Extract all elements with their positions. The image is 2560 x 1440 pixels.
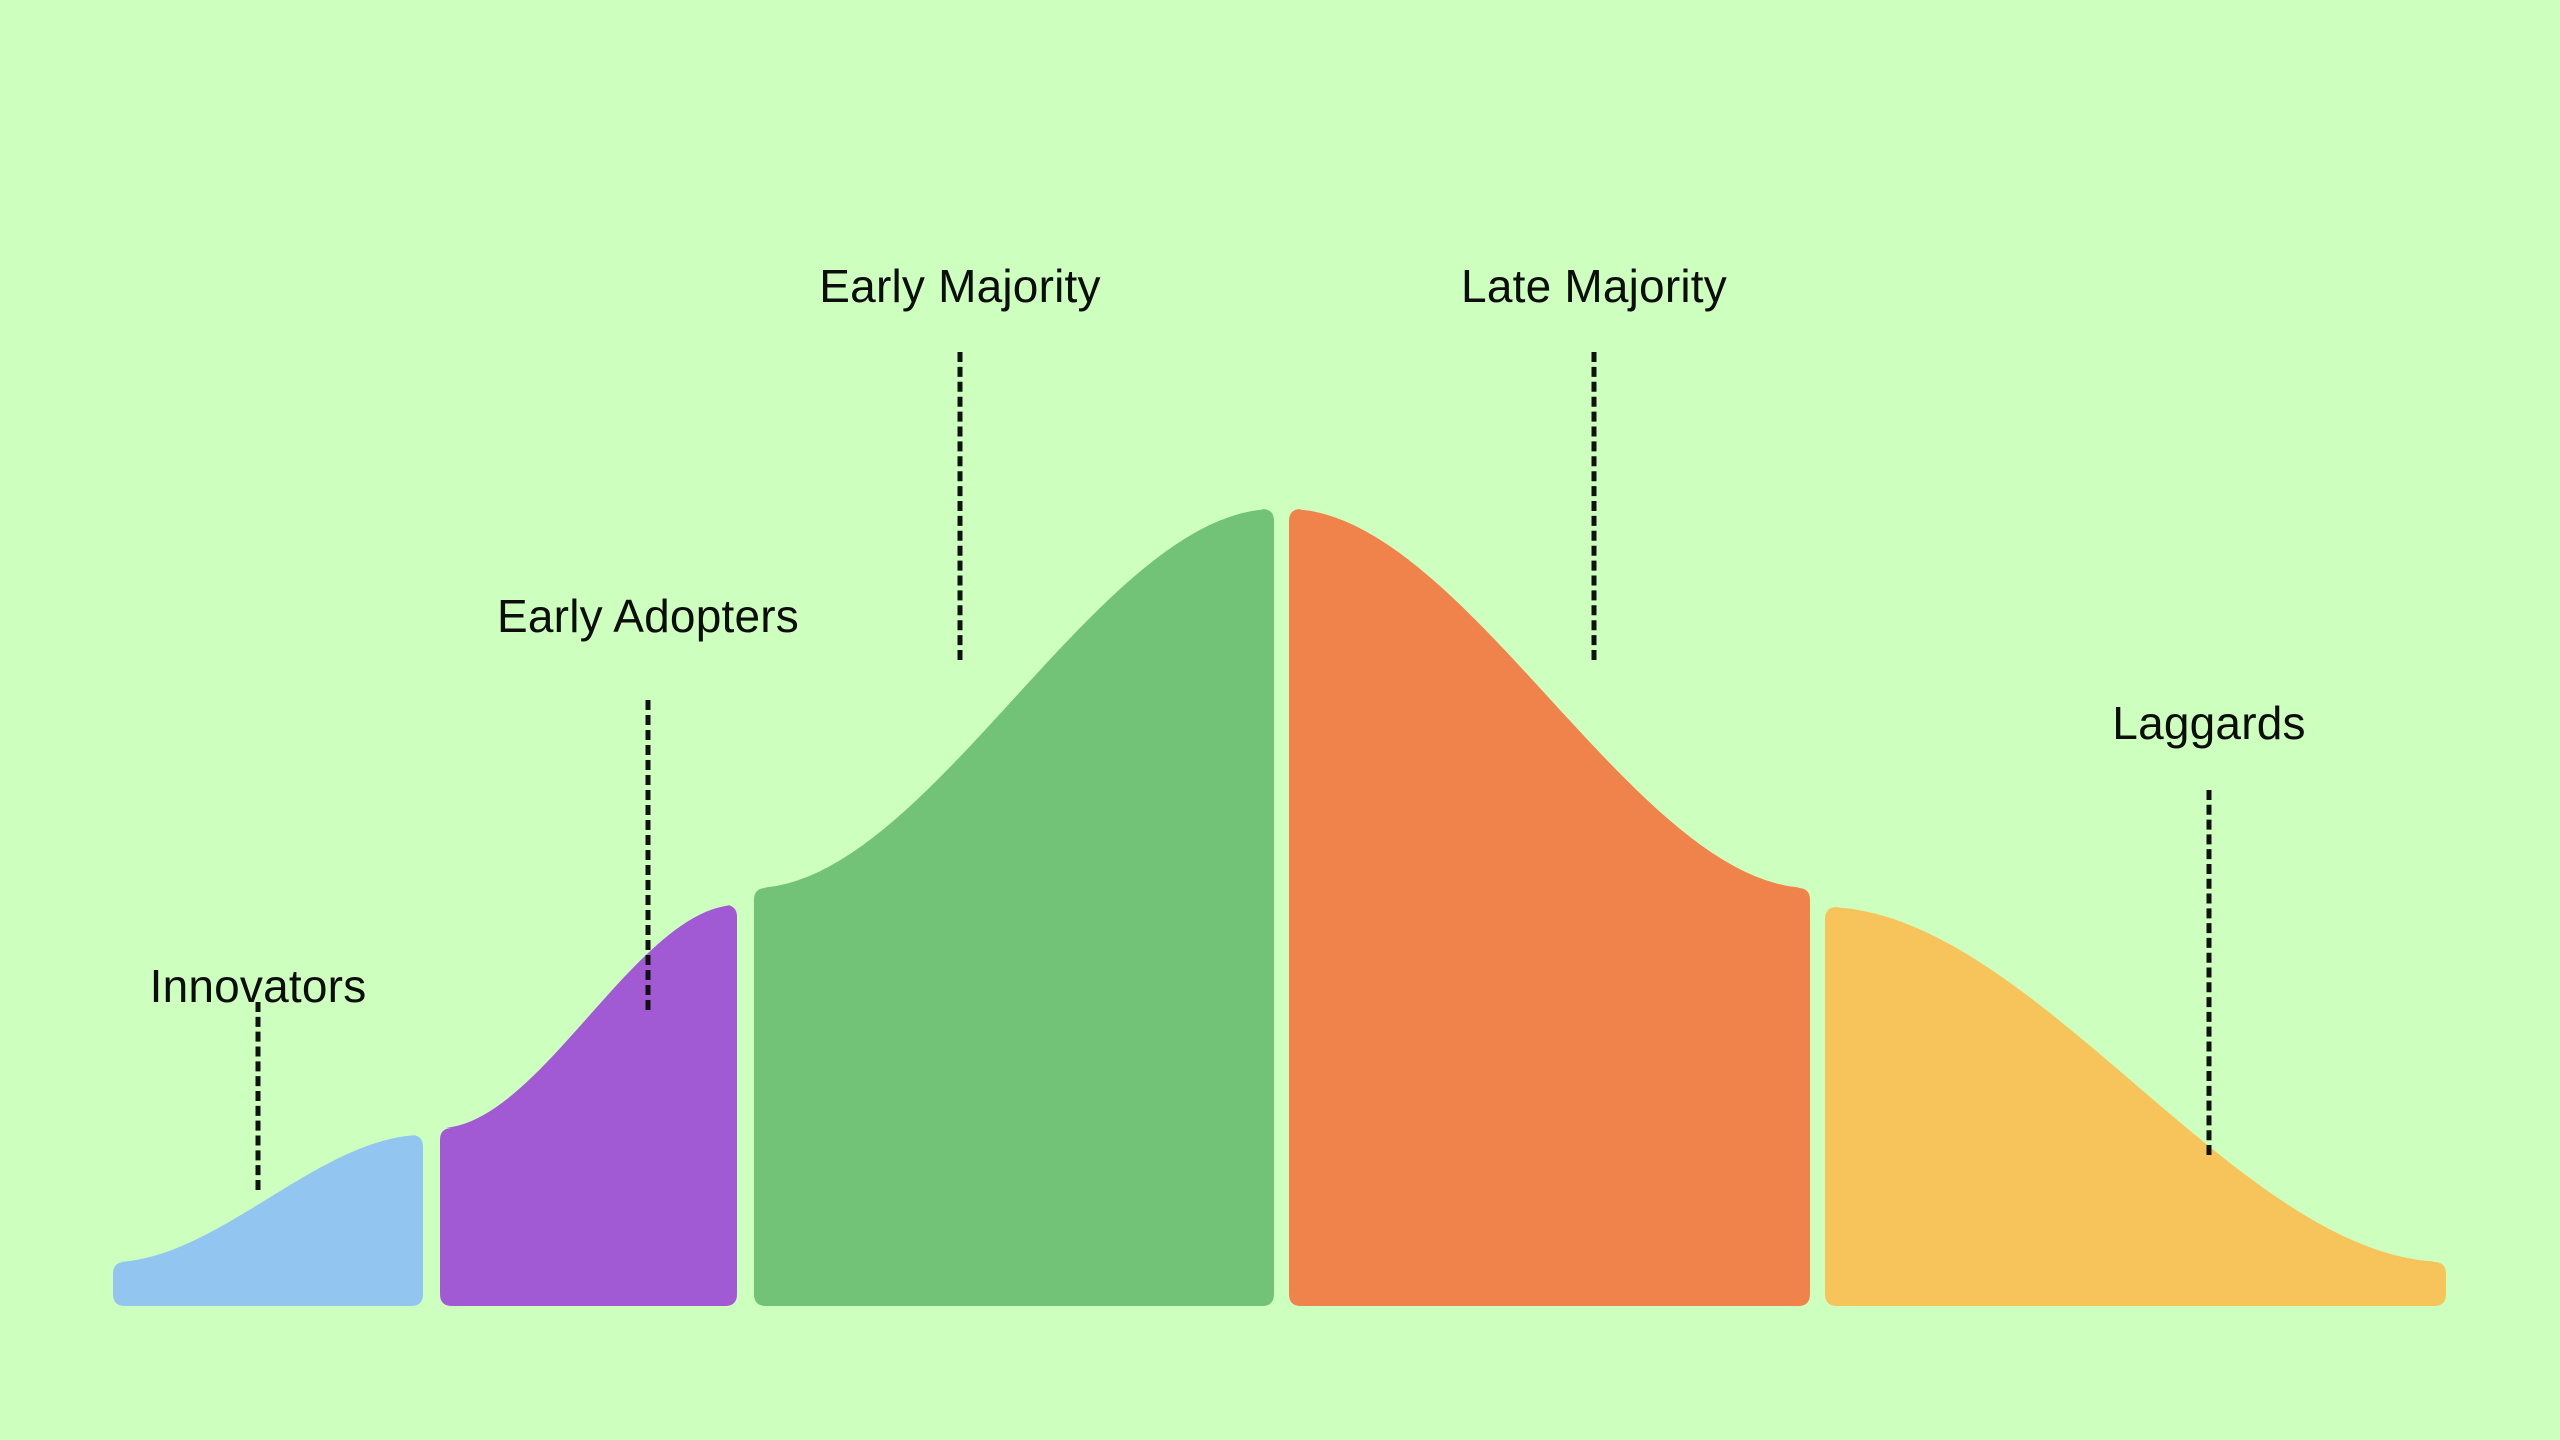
segment-label-laggards: Laggards [2112,700,2305,746]
curve-segment-early-adopters[interactable] [440,905,737,1306]
segment-label-early-adopters: Early Adopters [497,593,799,639]
leader-line-early-adopters [646,700,651,1010]
leader-line-laggards [2207,790,2212,1155]
leader-line-early-majority [958,352,963,660]
leader-line-late-majority [1592,352,1597,660]
curve-segment-innovators[interactable] [113,1135,423,1306]
curve-segments [113,509,2446,1306]
segment-label-early-majority: Early Majority [819,263,1100,309]
adoption-curve-chart: InnovatorsEarly AdoptersEarly MajorityLa… [0,0,2560,1440]
leader-line-innovators [256,1002,261,1190]
curve-segment-laggards[interactable] [1825,907,2446,1306]
curve-segment-late-majority[interactable] [1289,509,1810,1306]
curve-segment-early-majority[interactable] [754,509,1274,1306]
segment-label-late-majority: Late Majority [1461,263,1727,309]
